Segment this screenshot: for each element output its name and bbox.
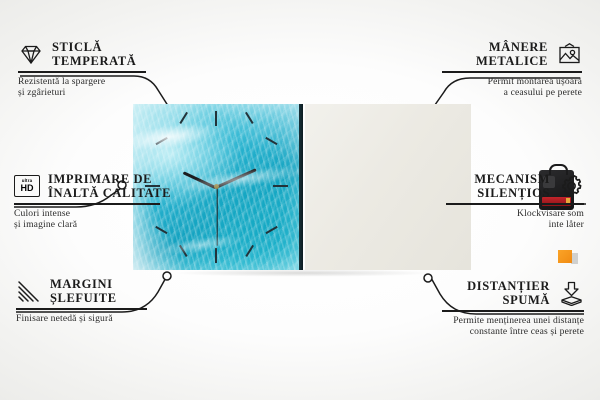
feature-description: Permite menținerea unei distanțe constan… [428, 315, 584, 338]
foam-spacer-shadow [571, 253, 578, 264]
polished-edges-icon [16, 279, 42, 303]
feature-divider [442, 71, 582, 73]
tick-3 [273, 185, 288, 187]
feature-divider [442, 310, 584, 312]
feature-title: MARGINI ȘLEFUITE [50, 277, 117, 305]
ultra-hd-icon: ultra HD [14, 174, 40, 198]
tick-7 [179, 245, 187, 257]
feature-desc-line2: inte låter [549, 219, 584, 230]
feature-header: STICLĂ TEMPERATĂ [18, 40, 168, 68]
feature-description: Rezistentă la spargere și zgârieturi [18, 76, 168, 99]
feature-desc-line1: Finisare netedă și sigură [16, 313, 113, 324]
feature-desc-line1: Culori intense [14, 208, 70, 219]
feature-title-line2: ȘLEFUITE [50, 291, 117, 305]
feature-title-line1: MÂNERE [489, 40, 548, 54]
product-image [133, 104, 471, 270]
second-hand [216, 188, 217, 246]
feature-silent-mechanism: MECANISM SILENȚIOS Klockvisare som inte … [432, 172, 584, 231]
feature-divider [14, 203, 160, 205]
feature-description: Culori intense și imagine clară [14, 208, 174, 231]
feature-description: Finisare netedă și sigură [16, 313, 161, 325]
glass-edge [299, 104, 303, 270]
feature-title-line2: ÎNALTĂ CALITATE [48, 186, 171, 200]
hour-hand [183, 171, 217, 189]
feature-desc-line1: Permite menținerea unei distanțe [453, 315, 584, 326]
tick-12 [215, 111, 217, 126]
foam-spacer-part [558, 250, 572, 263]
feature-header: MARGINI ȘLEFUITE [16, 277, 161, 305]
feature-hq-printing: ultra HD IMPRIMARE DE ÎNALTĂ CALITATE Cu… [14, 172, 174, 231]
feature-title-line1: DISTANȚIER [467, 279, 550, 293]
feature-title-line2: SILENȚIOS [477, 186, 550, 200]
feature-title: DISTANȚIER SPUMĂ [467, 279, 550, 307]
feature-description: Klockvisare som inte låter [432, 208, 584, 231]
feature-foam-spacer: DISTANȚIER SPUMĂ Permite menținerea unei… [428, 279, 584, 338]
feature-desc-line1: Klockvisare som [517, 208, 584, 219]
feature-divider [18, 71, 146, 73]
feature-desc-line2: a ceasului pe perete [504, 87, 582, 98]
feature-desc-line1: Permit montarea ușoară [488, 76, 582, 87]
gear-icon [558, 174, 584, 198]
feature-divider [16, 308, 147, 310]
feature-title: MÂNERE METALICE [476, 40, 548, 68]
minute-hand [215, 168, 257, 189]
hd-badge: ultra HD [14, 175, 40, 197]
feature-desc-line2: constante între ceas și perete [470, 326, 584, 337]
feature-title-line1: STICLĂ [52, 40, 102, 54]
feature-header: MÂNERE METALICE [428, 40, 582, 68]
feature-header: MECANISM SILENȚIOS [432, 172, 584, 200]
diamond-icon [18, 42, 44, 66]
feature-desc-line2: și zgârieturi [18, 87, 66, 98]
tick-10 [155, 137, 167, 145]
tick-5 [245, 245, 253, 257]
feature-header: DISTANȚIER SPUMĂ [428, 279, 584, 307]
feature-title-line1: MECANISM [474, 172, 550, 186]
feature-title: STICLĂ TEMPERATĂ [52, 40, 136, 68]
feature-header: ultra HD IMPRIMARE DE ÎNALTĂ CALITATE [14, 172, 174, 200]
feature-tempered-glass: STICLĂ TEMPERATĂ Rezistentă la spargere … [18, 40, 168, 99]
foam-spacer-icon [558, 281, 584, 305]
feature-metal-handles: MÂNERE METALICE Permit montarea ușoară a… [428, 40, 582, 99]
feature-title-line2: METALICE [476, 54, 548, 68]
tick-1 [245, 112, 253, 124]
tick-2 [265, 137, 277, 145]
feature-description: Permit montarea ușoară a ceasului pe per… [428, 76, 582, 99]
feature-title-line2: TEMPERATĂ [52, 54, 136, 68]
tick-4 [265, 226, 277, 234]
feature-title: IMPRIMARE DE ÎNALTĂ CALITATE [48, 172, 171, 200]
feature-divider [446, 203, 584, 205]
feature-desc-line1: Rezistentă la spargere [18, 76, 105, 87]
tick-6 [215, 248, 217, 263]
picture-hanger-icon [556, 42, 582, 66]
feature-title-line1: MARGINI [50, 277, 113, 291]
hd-label: HD [21, 184, 34, 193]
feature-title-line1: IMPRIMARE DE [48, 172, 152, 186]
feature-title-line2: SPUMĂ [503, 293, 550, 307]
infographic-canvas: STICLĂ TEMPERATĂ Rezistentă la spargere … [0, 0, 600, 400]
feature-title: MECANISM SILENȚIOS [474, 172, 550, 200]
clock-pivot [214, 184, 219, 189]
feature-desc-line2: și imagine clară [14, 219, 77, 230]
tick-11 [179, 112, 187, 124]
feature-polished-edges: MARGINI ȘLEFUITE Finisare netedă și sigu… [16, 277, 161, 324]
